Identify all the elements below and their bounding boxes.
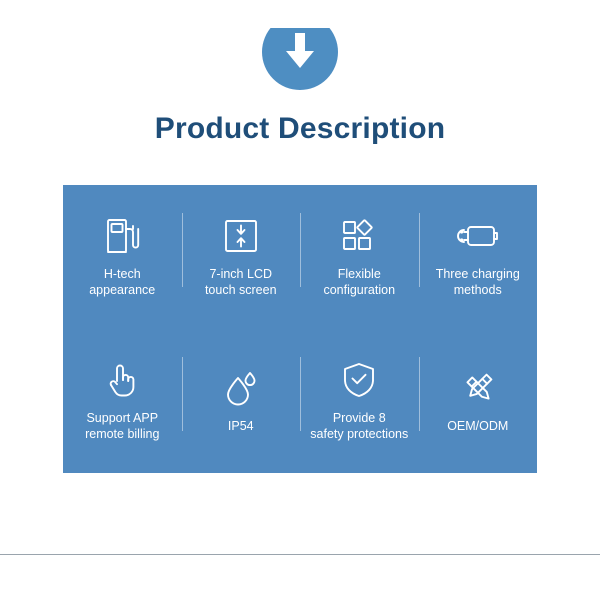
feature-label: Flexible configuration xyxy=(323,267,395,298)
feature-label: 7-inch LCD touch screen xyxy=(205,267,277,298)
hand-tap-icon xyxy=(104,360,140,400)
feature-label: Provide 8 safety protections xyxy=(310,411,408,442)
feature-row-1: H-tech appearance 7-inch LCD touch scree… xyxy=(63,185,537,329)
feature-item-oem-odm[interactable]: OEM/ODM xyxy=(419,329,538,473)
shield-check-icon xyxy=(341,360,377,400)
touch-screen-icon xyxy=(223,216,259,256)
feature-row-2: Support APP remote billing IP54 xyxy=(63,329,537,473)
feature-item-h-tech-appearance[interactable]: H-tech appearance xyxy=(63,185,182,329)
crossed-pencils-icon xyxy=(459,368,497,408)
feature-label: IP54 xyxy=(228,419,254,435)
badge-top-mask xyxy=(0,0,600,28)
feature-label: OEM/ODM xyxy=(447,419,508,435)
feature-panel: H-tech appearance 7-inch LCD touch scree… xyxy=(63,185,537,473)
feature-item-flexible-configuration[interactable]: Flexible configuration xyxy=(300,185,419,329)
feature-item-three-charging-methods[interactable]: Three charging methods xyxy=(419,185,538,329)
feature-label: Three charging methods xyxy=(436,267,520,298)
footer-divider xyxy=(0,554,600,555)
feature-item-support-app-remote-billing[interactable]: Support APP remote billing xyxy=(63,329,182,473)
arrow-down-icon xyxy=(282,31,318,73)
page-title: Product Description xyxy=(0,112,600,146)
feature-item-provide-8-safety-protections[interactable]: Provide 8 safety protections xyxy=(300,329,419,473)
water-drop-icon xyxy=(223,368,259,408)
fuel-pump-icon xyxy=(104,216,140,256)
feature-item-ip54[interactable]: IP54 xyxy=(182,329,301,473)
battery-plug-icon xyxy=(457,216,499,256)
feature-label: H-tech appearance xyxy=(89,267,155,298)
feature-label: Support APP remote billing xyxy=(85,411,159,442)
feature-item-7-inch-lcd-touch-screen[interactable]: 7-inch LCD touch screen xyxy=(182,185,301,329)
modules-icon xyxy=(340,216,378,256)
